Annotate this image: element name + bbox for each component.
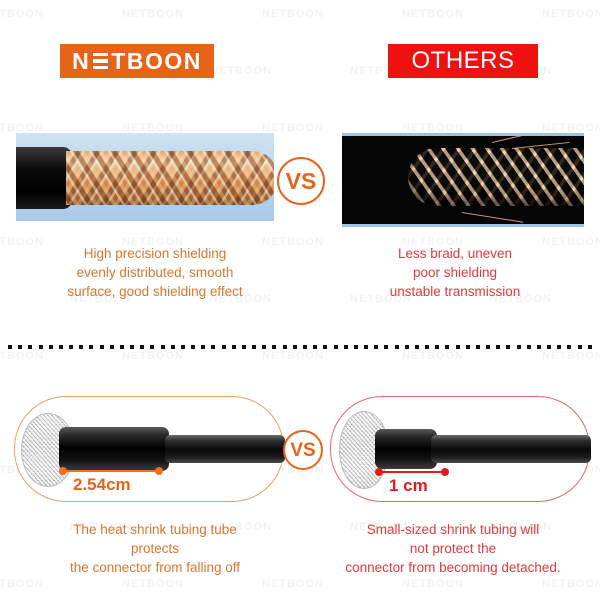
netboon-tubing-caption: The heat shrink tubing tube protects the… (20, 520, 290, 577)
watermark-text: NETBOON (402, 350, 464, 362)
cable-body (431, 435, 591, 463)
watermark-text: NETBOON (122, 350, 184, 362)
divider-dot (303, 345, 307, 349)
divider-dot (476, 345, 480, 349)
divider-dot (201, 345, 205, 349)
divider-dot (323, 345, 327, 349)
watermark-text: NETBOON (122, 8, 184, 20)
section-divider (8, 344, 592, 349)
dimension-label-254cm: 2.54cm (73, 475, 131, 495)
watermark-text: NETBOON (262, 578, 324, 590)
caption-line: surface, good shielding effect (22, 282, 288, 301)
divider-dot (293, 345, 297, 349)
divider-dot (100, 345, 104, 349)
divider-dot (69, 345, 73, 349)
divider-dot (140, 345, 144, 349)
divider-dot (334, 345, 338, 349)
caption-line: evenly distributed, smooth (22, 263, 288, 282)
caption-line: Less braid, uneven (322, 244, 588, 263)
watermark-text: NETBOON (122, 578, 184, 590)
caption-line: poor shielding (322, 263, 588, 282)
dimension-rule (63, 470, 159, 472)
divider-dot (18, 345, 22, 349)
watermark-text: NETBOON (0, 350, 44, 362)
others-shielding-caption: Less braid, uneven poor shielding unstab… (322, 244, 588, 301)
dimension-endpoint (375, 468, 383, 476)
vs-badge-row1: VS (277, 157, 325, 205)
divider-dot (517, 345, 521, 349)
dimension-line-254cm (63, 470, 159, 472)
divider-dot (242, 345, 246, 349)
caption-line: protects (20, 539, 290, 558)
divider-dot (313, 345, 317, 349)
caption-line: the connector from falling off (20, 558, 290, 577)
divider-dot (344, 345, 348, 349)
divider-dot (8, 345, 12, 349)
header-row: N TBOON OTHERS (0, 44, 600, 80)
divider-dot (59, 345, 63, 349)
divider-dot (527, 345, 531, 349)
divider-dot (232, 345, 236, 349)
watermark-text: NETBOON (0, 578, 44, 590)
divider-dot (79, 345, 83, 349)
divider-dot (557, 345, 561, 349)
divider-dot (384, 345, 388, 349)
divider-dot (161, 345, 165, 349)
caption-line: High precision shielding (22, 244, 288, 263)
watermark-text: NETBOON (542, 8, 600, 20)
dimension-endpoint (59, 467, 67, 475)
divider-dot (567, 345, 571, 349)
divider-dot (547, 345, 551, 349)
watermark-text: NETBOON (402, 8, 464, 20)
divider-dot (28, 345, 32, 349)
divider-dot (283, 345, 287, 349)
cable-jacket (16, 147, 72, 209)
divider-dot (415, 345, 419, 349)
divider-dot (456, 345, 460, 349)
divider-dot (191, 345, 195, 349)
divider-dot (39, 345, 43, 349)
vs-badge-row2: VS (283, 430, 323, 470)
dimension-endpoint (441, 468, 449, 476)
divider-dot (222, 345, 226, 349)
caption-line: The heat shrink tubing tube (20, 520, 290, 539)
divider-dot (354, 345, 358, 349)
divider-dot (537, 345, 541, 349)
divider-dot (120, 345, 124, 349)
divider-dot (374, 345, 378, 349)
netboon-shielding-caption: High precision shielding evenly distribu… (22, 244, 288, 301)
divider-dot (171, 345, 175, 349)
divider-dot (445, 345, 449, 349)
divider-dot (364, 345, 368, 349)
divider-dot (466, 345, 470, 349)
divider-dot (130, 345, 134, 349)
divider-dot (181, 345, 185, 349)
netboon-wordmark: N TBOON (72, 48, 202, 75)
cable-body (165, 435, 285, 463)
others-shielding-photo (342, 133, 584, 227)
others-tubing-caption: Small-sized shrink tubing will not prote… (312, 520, 594, 577)
stray-strand (492, 133, 560, 143)
divider-dot (395, 345, 399, 349)
divider-dot (211, 345, 215, 349)
divider-dot (486, 345, 490, 349)
watermark-text: NETBOON (262, 8, 324, 20)
vs-label: VS (290, 441, 315, 460)
dense-copper-braid (66, 151, 274, 205)
netboon-tubing-panel: 2.54cm (14, 396, 284, 502)
divider-dot (252, 345, 256, 349)
divider-dot (272, 345, 276, 349)
heat-shrink-tubing (59, 427, 169, 471)
dimension-rule (379, 471, 445, 473)
sparse-copper-braid (408, 148, 584, 206)
divider-dot (435, 345, 439, 349)
caption-line: not protect the (312, 539, 594, 558)
divider-dot (588, 345, 592, 349)
watermark-text: NETBOON (402, 578, 464, 590)
comparison-infographic: NETBOONNETBOONNETBOONNETBOONNETBOONNETBO… (0, 0, 600, 600)
heat-shrink-tubing (375, 429, 437, 469)
watermark-text: NETBOON (0, 8, 44, 20)
others-tubing-panel: 1 cm (330, 396, 590, 502)
caption-line: unstable transmission (322, 282, 588, 301)
netboon-shielding-photo (16, 133, 274, 221)
dimension-endpoint (155, 467, 163, 475)
dimension-label-1cm: 1 cm (389, 476, 428, 496)
divider-dot (110, 345, 114, 349)
stray-strand (462, 212, 523, 223)
divider-dot (49, 345, 53, 349)
watermark-text: NETBOON (542, 350, 600, 362)
divider-dot (150, 345, 154, 349)
caption-line: connector from becoming detached. (312, 558, 594, 577)
divider-dot (506, 345, 510, 349)
divider-dot (89, 345, 93, 349)
others-badge: OTHERS (388, 44, 538, 78)
divider-dot (262, 345, 266, 349)
divider-dot (578, 345, 582, 349)
vs-label: VS (286, 170, 317, 193)
divider-dot (496, 345, 500, 349)
caption-line: Small-sized shrink tubing will (312, 520, 594, 539)
divider-dot (405, 345, 409, 349)
netboon-e-glyph-icon (93, 51, 108, 71)
divider-dot (425, 345, 429, 349)
dimension-line-1cm (379, 471, 445, 473)
watermark-text: NETBOON (542, 578, 600, 590)
others-label: OTHERS (411, 47, 514, 75)
watermark-text: NETBOON (262, 350, 324, 362)
netboon-brand-badge: N TBOON (60, 44, 214, 78)
